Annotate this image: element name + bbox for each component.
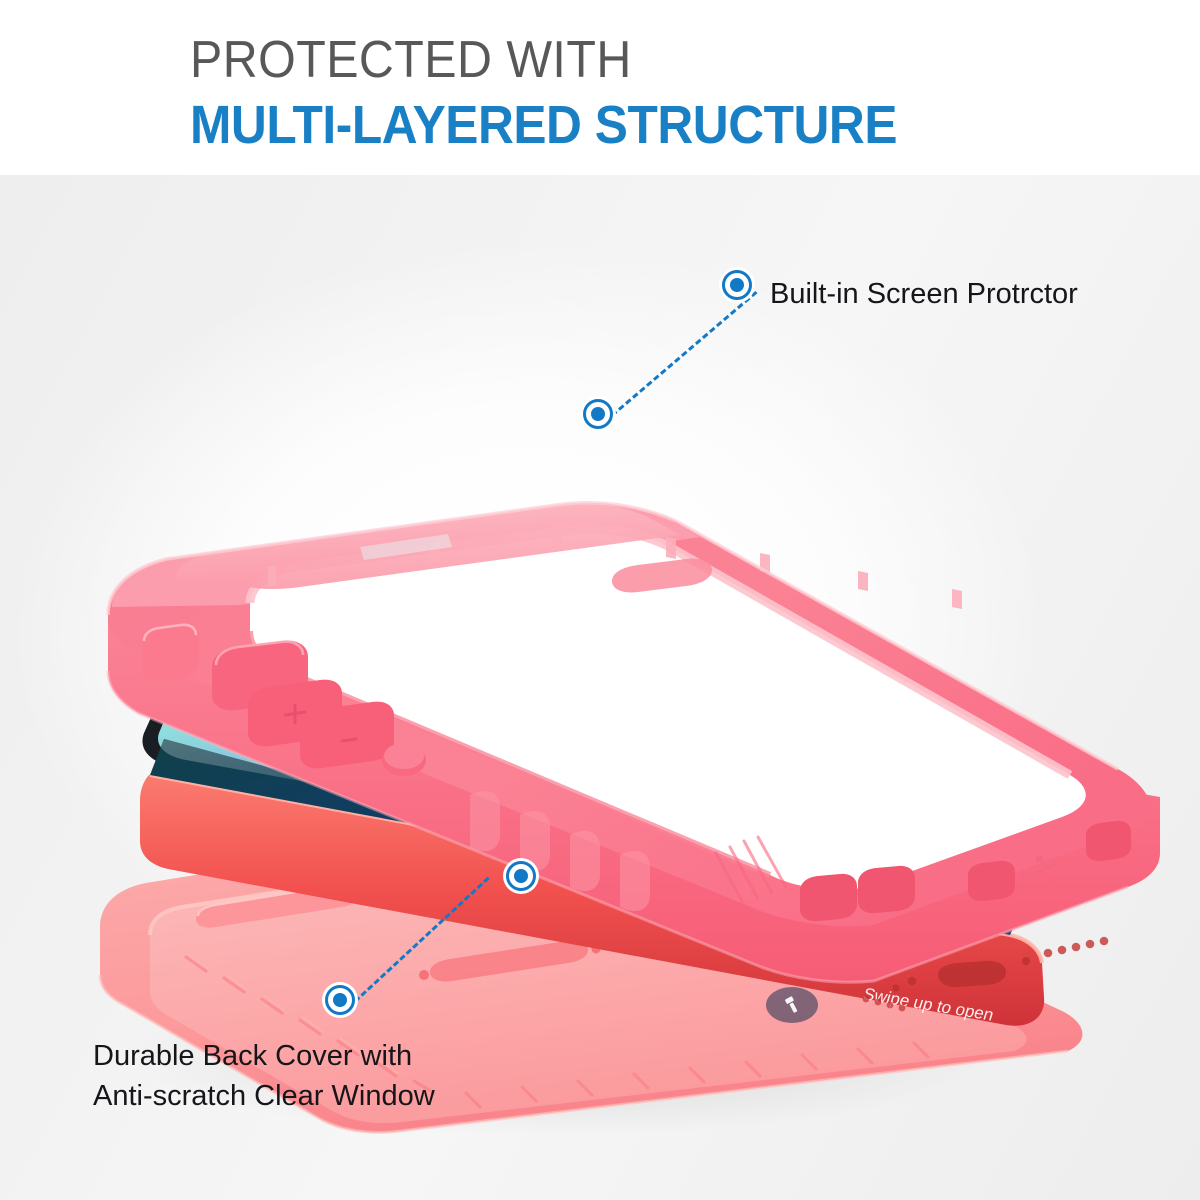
callout-marker-back-cover-anchor[interactable] — [325, 985, 355, 1015]
callout-marker-screen-protector-anchor[interactable] — [722, 270, 752, 300]
button-cutout-right — [1086, 821, 1131, 861]
header-banner: PROTECTED WITH MULTI-LAYERED STRUCTURE — [0, 0, 1200, 175]
mute-switch-cover — [142, 625, 199, 681]
callout-label-screen-protector: Built-in Screen Protrctor — [770, 274, 1078, 314]
callout-label-back-cover-line-2: Anti-scratch Clear Window — [93, 1076, 563, 1116]
callout-label-back-cover: Durable Back Cover with Anti-scratch Cle… — [93, 1036, 563, 1116]
callout-label-back-cover-line-1: Durable Back Cover with — [93, 1036, 563, 1076]
product-stage: 8:57 Swipe up to open — [0, 175, 1200, 1200]
charging-port-cutout — [968, 861, 1015, 901]
header-line-secondary: MULTI-LAYERED STRUCTURE — [190, 96, 897, 154]
callout-marker-back-cover-target[interactable] — [506, 861, 536, 891]
button-knob — [382, 743, 426, 776]
volume-down-button — [300, 702, 394, 769]
header-line-primary: PROTECTED WITH — [190, 32, 632, 88]
callout-marker-screen-protector-target[interactable] — [583, 399, 613, 429]
